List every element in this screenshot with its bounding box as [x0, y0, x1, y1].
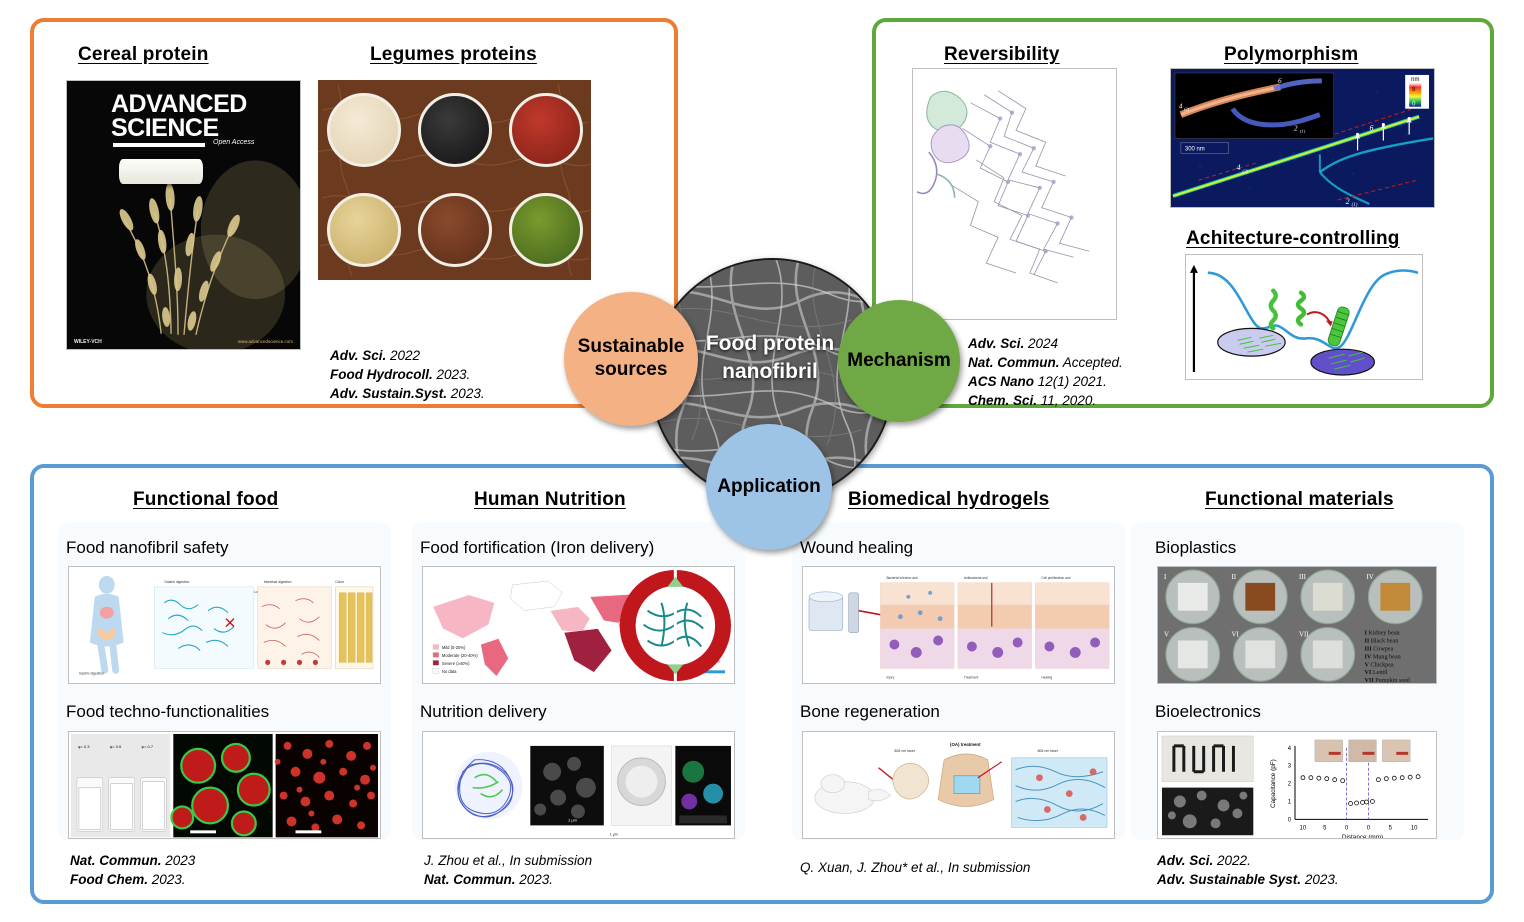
svg-text:(1): (1): [1300, 129, 1306, 134]
bubble-sources-line2: sources: [578, 359, 685, 382]
citation-item: Chem. Sci. 11, 2020.: [968, 391, 1123, 410]
citation-item: ACS Nano 12(1) 2021.: [968, 372, 1123, 391]
afm-polymorphism-image: 4(2) 6 2(1) 4(2) 6 2(1) 300 nm: [1170, 68, 1435, 208]
citation-item: Nat. Commun. 2023.: [424, 870, 592, 889]
svg-text:V Chickpea: V Chickpea: [1365, 662, 1394, 668]
bioelectronics-panel: 012 34 1050 0510 Distance (mm) Capacitan…: [1158, 732, 1436, 839]
svg-text:I Kidney bean: I Kidney bean: [1365, 631, 1400, 637]
svg-text:Injury: Injury: [886, 675, 894, 679]
heading-polymorphism: Polymorphism: [1224, 44, 1358, 66]
cover-title: ADVANCED SCIENCE: [111, 93, 294, 140]
heading-human-nutrition: Human Nutrition: [474, 489, 626, 511]
svg-text:Antibacterial and: Antibacterial and: [964, 576, 988, 580]
svg-text:φ= 0.7: φ= 0.7: [142, 744, 154, 749]
bubble-application[interactable]: Application: [706, 424, 832, 550]
citations-functional-food: Nat. Commun. 2023 Food Chem. 2023.: [70, 851, 195, 889]
svg-text:808 nm laser: 808 nm laser: [894, 749, 915, 753]
svg-text:2: 2: [1346, 197, 1350, 206]
citations-sustainable-sources: Adv. Sci. 2022 Food Hydrocoll. 2023. Adv…: [330, 346, 485, 403]
citation-item: Nat. Commun. 2023: [70, 851, 195, 870]
sublabel-bioelectronics: Bioelectronics: [1155, 702, 1261, 722]
legumes-photo-grid: [318, 80, 591, 280]
svg-text:6: 6: [1278, 77, 1282, 85]
bubble-mechanism[interactable]: Mechanism: [838, 300, 960, 422]
digestion-diagram: Gastric digestion Gastric digestion Inte…: [69, 567, 380, 684]
cover-website: www.advancedscience.com: [238, 339, 293, 344]
bowl-lentil: [409, 180, 500, 280]
bone-regeneration-diagram: 808 nm laser (OA) treatment 808 nm laser: [803, 732, 1114, 839]
svg-text:φ= 0.5: φ= 0.5: [110, 744, 122, 749]
citation-item: J. Zhou et al., In submission: [424, 851, 592, 870]
heading-cereal-protein: Cereal protein: [78, 44, 209, 66]
citation-item: Adv. Sci. 2022.: [1157, 851, 1339, 870]
protein-structure-image: [912, 68, 1117, 320]
svg-text:(2): (2): [1242, 170, 1248, 175]
svg-text:300 nm: 300 nm: [1185, 146, 1205, 152]
svg-text:1 µm: 1 µm: [610, 832, 618, 836]
svg-text:Moderate (20-40%): Moderate (20-40%): [442, 653, 478, 658]
svg-text:2: 2: [1294, 125, 1298, 133]
svg-text:III: III: [1299, 573, 1307, 581]
svg-text:Intestinal digestion: Intestinal digestion: [264, 580, 292, 584]
svg-text:III Cowpea: III Cowpea: [1365, 646, 1394, 652]
cover-protein-disc: [119, 159, 203, 184]
svg-text:Gastric digestion: Gastric digestion: [164, 580, 189, 584]
svg-text:Severe (≥40%): Severe (≥40%): [442, 661, 470, 666]
svg-text:4: 4: [1236, 163, 1240, 172]
svg-text:6: 6: [1369, 124, 1373, 133]
citation-item: Adv. Sci. 2022: [330, 346, 485, 365]
sublabel-food-fortification: Food fortification (Iron delivery): [420, 538, 654, 558]
energy-landscape-image: [1185, 254, 1423, 380]
citations-mechanism: Adv. Sci. 2024 Nat. Commun. Accepted. AC…: [968, 334, 1123, 411]
bioplastic-films-photo: I II III IV V: [1158, 567, 1436, 684]
sublabel-food-nanofibril-safety: Food nanofibril safety: [66, 538, 229, 558]
delivery-particles: 1 µm 1 µm: [423, 732, 734, 839]
wound-healing-diagram: Bacterial infection and Antibacterial an…: [803, 567, 1114, 684]
cover-title-line2: SCIENCE: [111, 117, 294, 141]
svg-text:VII: VII: [1299, 630, 1309, 638]
svg-text:1 µm: 1 µm: [568, 817, 578, 822]
bowl-mung-bean: [500, 180, 591, 280]
journal-cover-advanced-science: Vol. 9 No. 1 February 2022: [66, 80, 301, 350]
afm-fibril-scan: 4(2) 6 2(1) 4(2) 6 2(1) 300 nm: [1171, 69, 1434, 208]
citation-item: Q. Xuan, J. Zhou* et al., In submission: [800, 858, 1030, 877]
citation-item: Adv. Sci. 2024: [968, 334, 1123, 353]
citation-item: Adv. Sustainable Syst. 2023.: [1157, 870, 1339, 889]
image-bioelectronics: 012 34 1050 0510 Distance (mm) Capacitan…: [1157, 731, 1437, 839]
emulsion-micrographs: φ= 0.3φ= 0.5φ= 0.7: [69, 732, 380, 839]
image-bioplastics: I II III IV V: [1157, 566, 1437, 684]
svg-text:φ= 0.3: φ= 0.3: [78, 744, 90, 749]
sublabel-bone-regeneration: Bone regeneration: [800, 702, 940, 722]
svg-text:Distance (mm): Distance (mm): [1342, 834, 1383, 839]
svg-text:VI Lentil: VI Lentil: [1365, 670, 1388, 676]
svg-text:Cell proliferation and: Cell proliferation and: [1041, 576, 1070, 580]
sublabel-wound-healing: Wound healing: [800, 538, 913, 558]
svg-text:808 nm laser: 808 nm laser: [1037, 749, 1058, 753]
image-bone-regeneration: 808 nm laser (OA) treatment 808 nm laser: [802, 731, 1115, 839]
bubble-sustainable-sources[interactable]: Sustainable sources: [564, 292, 698, 426]
svg-text:IV Mung bean: IV Mung bean: [1365, 654, 1401, 660]
svg-text:VII Pumpkin seed: VII Pumpkin seed: [1365, 678, 1410, 684]
anemia-world-map: Mild (5-20%) Moderate (20-40%) Severe (≥…: [423, 567, 734, 684]
citations-functional-materials: Adv. Sci. 2022. Adv. Sustainable Syst. 2…: [1157, 851, 1339, 889]
svg-text:(OA) treatment: (OA) treatment: [950, 742, 981, 747]
bowl-kidney-bean: [500, 80, 591, 180]
image-nutrition-delivery: 1 µm 1 µm: [422, 731, 735, 839]
cover-title-line1: ADVANCED: [111, 93, 294, 117]
cover-rule: [113, 143, 205, 147]
citation-item: Food Chem. 2023.: [70, 870, 195, 889]
citations-human-nutrition: J. Zhou et al., In submission Nat. Commu…: [424, 851, 592, 889]
heading-biomedical-hydrogels: Biomedical hydrogels: [848, 489, 1049, 511]
svg-text:(1): (1): [1352, 203, 1358, 208]
svg-text:VI: VI: [1231, 630, 1239, 638]
cover-open-access: Open Access: [213, 139, 254, 146]
cover-publisher: WILEY-VCH: [74, 339, 102, 345]
image-iron-delivery: Mild (5-20%) Moderate (20-40%) Severe (≥…: [422, 566, 735, 684]
svg-text:Treatment: Treatment: [964, 675, 978, 679]
svg-text:Capacitance (pF): Capacitance (pF): [1270, 759, 1277, 808]
sublabel-nutrition-delivery: Nutrition delivery: [420, 702, 547, 722]
svg-text:No data: No data: [442, 669, 457, 674]
energy-landscape-diagram: [1186, 255, 1422, 380]
bowl-cowpea: [318, 80, 409, 180]
svg-text:Healing: Healing: [1041, 675, 1052, 679]
image-techno-functionalities: φ= 0.3φ= 0.5φ= 0.7: [68, 731, 381, 839]
citation-item: Adv. Sustain.Syst. 2023.: [330, 384, 485, 403]
svg-text:(2): (2): [1184, 107, 1190, 112]
svg-text:V: V: [1164, 630, 1169, 638]
image-digestion-schematic: Gastric digestion Gastric digestion Inte…: [68, 566, 381, 684]
svg-text:IV: IV: [1366, 573, 1373, 581]
heading-functional-materials: Functional materials: [1205, 489, 1394, 511]
svg-text:II: II: [1231, 573, 1236, 581]
svg-text:nm: nm: [1411, 77, 1419, 83]
sublabel-food-techno-functionalities: Food techno-functionalities: [66, 702, 269, 722]
heading-functional-food: Functional food: [133, 489, 278, 511]
citation-item: Food Hydrocoll. 2023.: [330, 365, 485, 384]
svg-text:4: 4: [1179, 103, 1183, 111]
svg-text:10: 10: [1411, 825, 1418, 831]
svg-text:2: 2: [1288, 782, 1291, 788]
svg-text:II Black bean: II Black bean: [1365, 638, 1399, 644]
protein-fibril-diagram: [913, 69, 1116, 319]
svg-text:10: 10: [1300, 825, 1307, 831]
svg-text:Colon: Colon: [335, 580, 344, 584]
bowl-black-bean: [409, 80, 500, 180]
citations-biomedical-hydrogels: Q. Xuan, J. Zhou* et al., In submission: [800, 858, 1030, 877]
sublabel-bioplastics: Bioplastics: [1155, 538, 1236, 558]
heading-legumes-proteins: Legumes proteins: [370, 44, 537, 66]
svg-text:Bacterial infection and: Bacterial infection and: [886, 576, 917, 580]
heading-architecture-controlling: Achitecture-controlling: [1186, 228, 1400, 250]
bowl-chickpea: [318, 180, 409, 280]
bubble-sources-line1: Sustainable: [578, 336, 685, 359]
citation-item: Nat. Commun. Accepted.: [968, 353, 1123, 372]
svg-text:Mild (5-20%): Mild (5-20%): [442, 645, 466, 650]
heading-reversibility: Reversibility: [944, 44, 1060, 66]
svg-text:Gastric digestion: Gastric digestion: [79, 671, 104, 675]
image-wound-healing: Bacterial infection and Antibacterial an…: [802, 566, 1115, 684]
